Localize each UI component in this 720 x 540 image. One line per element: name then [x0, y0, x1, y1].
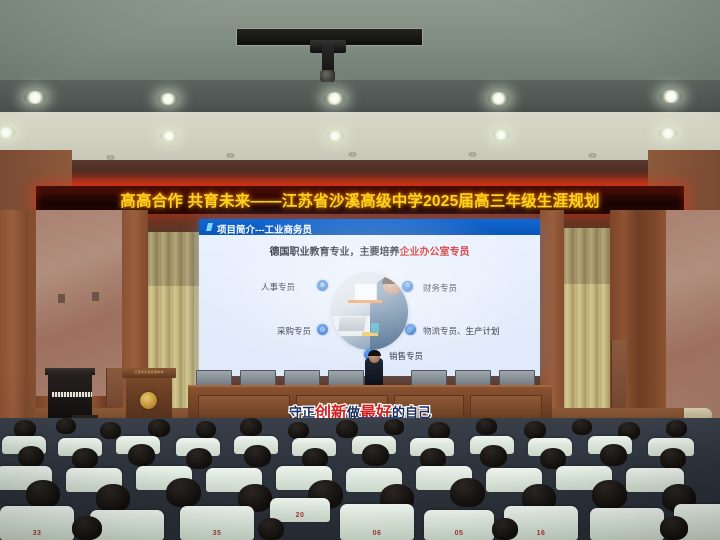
downlight [160, 131, 178, 141]
audience-head [592, 480, 627, 509]
downlight [326, 131, 344, 141]
school-emblem-icon [140, 392, 157, 409]
seat-back: 35 [180, 506, 254, 540]
audience-head [450, 478, 485, 507]
podium-plate-text: 江苏省沙溪高级中学 [134, 371, 164, 375]
desk-panel [470, 395, 542, 419]
audience-head [56, 418, 76, 434]
audience-head [186, 448, 212, 469]
audience-head [362, 444, 389, 466]
seat-back [590, 508, 664, 540]
audience-head [288, 422, 309, 439]
slide-center-photo [332, 274, 408, 350]
slide-role-label-hr: 人事专员 [261, 281, 295, 293]
seat-number: 33 [0, 530, 74, 537]
audience-head [660, 516, 688, 540]
downlight [226, 153, 235, 158]
slide-role-label-finance: 财务专员 [423, 282, 457, 294]
audience-head [196, 421, 216, 438]
piano-keys [52, 392, 92, 397]
audience-area: 33 35 20 06 05 16 [0, 418, 720, 540]
podium-nameplate: 江苏省沙溪高级中学 [122, 368, 176, 378]
photo-desk-band [348, 300, 382, 303]
seat-back: 33 [0, 506, 74, 540]
link-icon: 🔗 [405, 324, 416, 335]
target-icon: ◎ [317, 324, 328, 335]
audience-head [244, 445, 271, 467]
slide-role-label-sales: 销售专员 [389, 350, 423, 362]
downlight [588, 153, 597, 158]
wall-panel-far-left [0, 210, 36, 440]
wall-speaker-left-2 [92, 292, 99, 301]
downlight [492, 130, 510, 140]
clock-icon: ⏱ [402, 281, 413, 292]
ceiling-projector-arm [322, 44, 334, 72]
audience-head [258, 518, 284, 540]
photo-cup [371, 323, 379, 333]
slide-title: 项目简介---工业商务员 [217, 222, 312, 236]
slide-lead-line: 德国职业教育专业，主要培养企业办公室专员 [199, 243, 540, 258]
seat-number: 05 [424, 530, 494, 537]
audience-head [166, 478, 201, 507]
downlight [468, 152, 477, 157]
downlight [24, 91, 46, 104]
audience-head [336, 420, 358, 438]
slide-lead-prefix: 德国职业教育专业，主要培养 [270, 247, 400, 258]
ceiling-projector-lens [320, 70, 335, 82]
audience-head [72, 516, 102, 540]
wall-marble-right [666, 210, 720, 440]
seat-number: 06 [340, 530, 414, 537]
audience-head [128, 444, 155, 466]
audience-head [480, 445, 507, 467]
audience-head [148, 419, 170, 437]
gear-icon: ⚙ [317, 280, 328, 291]
audience-head [72, 448, 98, 469]
stage-curtain-left-top [148, 232, 200, 288]
downlight [348, 152, 357, 157]
seat-number: 20 [270, 512, 330, 519]
audience-head [524, 421, 546, 439]
downlight [488, 92, 509, 105]
seat-back: 20 [270, 498, 330, 522]
audience-head [666, 420, 687, 437]
audience-head [660, 448, 686, 469]
slide-role-label-logistics: 物流专员、生产计划 [423, 325, 500, 337]
led-banner-text: 高高合作 共育未来——江苏省沙溪高级中学2025届高三年级生涯规划 [120, 189, 599, 211]
audience-head [384, 419, 404, 435]
wall-speaker-left [58, 294, 65, 303]
downlight [158, 93, 178, 105]
speaker-hair [368, 350, 381, 356]
auditorium-photo: 高高合作 共育未来——江苏省沙溪高级中学2025届高三年级生涯规划 江苏省沙溪高… [0, 0, 720, 540]
audience-head [492, 518, 518, 540]
seat-number: 35 [180, 530, 254, 537]
audience-head [572, 419, 592, 435]
photo-laptop [338, 317, 366, 332]
stage-curtain-right-top [564, 228, 610, 286]
downlight [324, 92, 345, 105]
audience-head [600, 444, 627, 466]
audience-head [476, 418, 497, 435]
seat-back: 05 [424, 510, 494, 540]
audience-head [26, 480, 60, 508]
stage-curtain-right [564, 284, 610, 410]
slide-lead-highlight: 企业办公室专员 [400, 247, 470, 258]
audience-head [240, 418, 262, 436]
seat-back: 06 [340, 504, 414, 540]
downlight [660, 90, 682, 103]
audience-head [18, 446, 44, 467]
stage-door-left [106, 368, 123, 406]
downlight [658, 128, 678, 139]
slide-role-label-purchasing: 采购专员 [277, 325, 311, 337]
audience-head [96, 484, 130, 512]
stage-door-right [611, 340, 626, 408]
